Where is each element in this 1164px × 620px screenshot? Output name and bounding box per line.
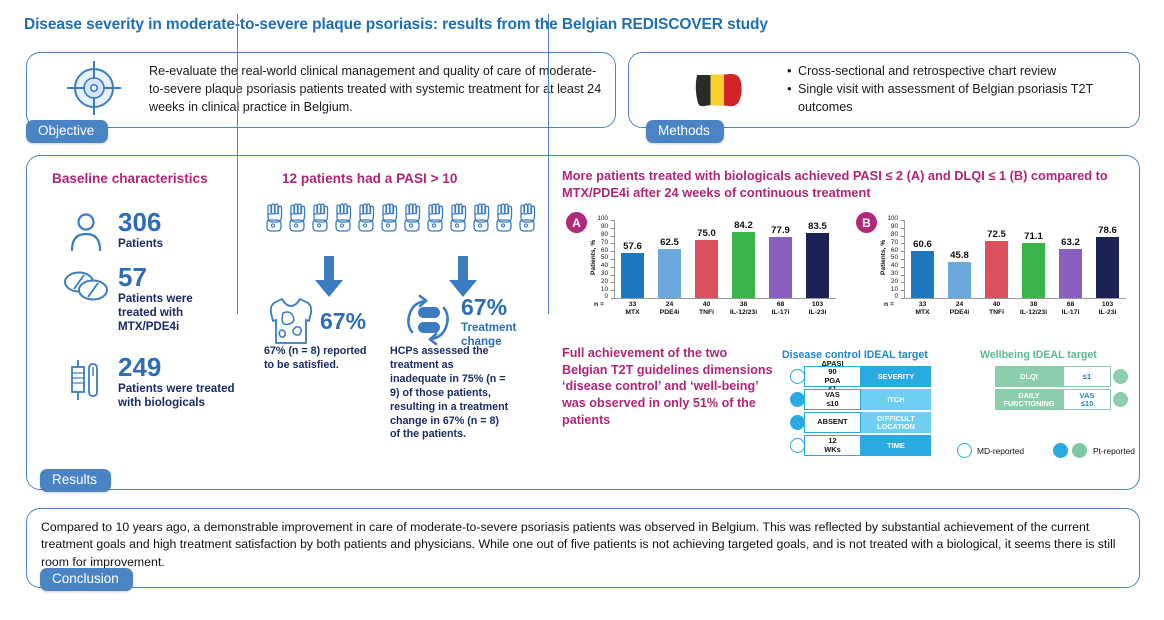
- target-chip: TIME: [861, 435, 931, 456]
- hand-icon: [517, 203, 539, 238]
- y-tick-label: 10: [884, 287, 898, 293]
- bar-value-label: 78.6: [1086, 225, 1130, 236]
- pills-icon: [62, 269, 112, 308]
- bar: [806, 233, 828, 298]
- y-tick-label: 100: [884, 216, 898, 222]
- y-tick-label: 10: [594, 287, 608, 293]
- x-axis: [904, 298, 1126, 299]
- stat-label: Patients: [118, 237, 163, 251]
- bar: [1059, 249, 1081, 298]
- bar-value-label: 63.2: [1049, 237, 1093, 248]
- y-tick-label: 100: [594, 216, 608, 222]
- wellbeing-dot-filled-icon: [1113, 369, 1128, 384]
- hand-icon: [425, 203, 447, 238]
- legend-pt-dot-green-icon: [1072, 443, 1087, 458]
- satisfied-caption: 67% (n = 8) reported to be satisfied.: [264, 345, 369, 373]
- target-chip: SEVERITY: [861, 366, 931, 387]
- person-icon: [69, 212, 103, 257]
- bar: [948, 262, 970, 298]
- chart-a-badge: A: [566, 212, 587, 233]
- hand-icon-row: [264, 203, 539, 238]
- bar: [658, 249, 680, 298]
- hand-icon: [471, 203, 493, 238]
- stat-label: Patients were treated with MTX/PDE4i: [118, 292, 233, 334]
- target-dot-open-icon: [790, 369, 805, 384]
- wellbeing-dot-filled-icon: [1113, 392, 1128, 407]
- bar-value-label: 62.5: [648, 237, 692, 248]
- target-value: VAS≤10: [804, 389, 861, 410]
- divider: [548, 14, 549, 314]
- objective-tab: Objective: [26, 120, 108, 143]
- target-value: 12WKs: [804, 435, 861, 456]
- target-dot-filled-icon: [790, 392, 805, 407]
- objective-text: Re-evaluate the real-world clinical mana…: [149, 63, 609, 117]
- legend-md-label: MD-reported: [977, 446, 1024, 456]
- stat-number: 249: [118, 355, 236, 380]
- bar: [695, 240, 717, 299]
- methods-panel: Cross-sectional and retrospective chart …: [628, 52, 1140, 128]
- hand-icon: [356, 203, 378, 238]
- methods-bullet: Single visit with assessment of Belgian …: [787, 81, 1132, 117]
- bar-value-label: 45.8: [938, 250, 982, 261]
- target-chip: DIFFICULTLOCATION: [861, 412, 931, 433]
- hand-icon: [494, 203, 516, 238]
- hand-icon: [264, 203, 286, 238]
- results-tab: Results: [40, 469, 111, 492]
- bar: [911, 251, 933, 298]
- wellbeing-chip: DAILYFUNCTIONING: [995, 389, 1063, 410]
- statement-text: Full achievement of the two Belgian T2T …: [562, 345, 774, 429]
- target-icon: [65, 59, 123, 122]
- page-title: Disease severity in moderate-to-severe p…: [24, 16, 768, 34]
- target-chip: ITCH: [861, 389, 931, 410]
- torso-psoriasis-icon: [268, 297, 314, 350]
- stat-label: Patients were treated with biologicals: [118, 382, 236, 410]
- conclusion-text: Compared to 10 years ago, a demonstrable…: [41, 519, 1127, 571]
- y-axis: [904, 220, 905, 298]
- bar-value-label: 83.5: [796, 221, 840, 232]
- wellbeing-value: VAS≤10: [1063, 389, 1111, 410]
- bar-value-label: 60.6: [901, 239, 945, 250]
- y-tick-label: 20: [884, 279, 898, 285]
- chart-a: 0102030405060708090100Patients, %n =57.6…: [592, 208, 846, 326]
- treatment-change-percent: 67%: [461, 296, 523, 319]
- bar: [1096, 237, 1118, 298]
- conclusion-panel: Compared to 10 years ago, a demonstrable…: [26, 508, 1140, 588]
- target-value: ABSENT: [804, 412, 861, 433]
- y-tick-label: 90: [884, 224, 898, 230]
- methods-bullet: Cross-sectional and retrospective chart …: [787, 63, 1132, 81]
- y-tick-label: 0: [884, 294, 898, 300]
- y-axis: [614, 220, 615, 298]
- belgian-flag-icon: [691, 69, 747, 116]
- n-equals-label: n =: [884, 301, 894, 308]
- legend-pt-label: Pt-reported: [1093, 446, 1135, 456]
- arrow-down-icon: [314, 256, 344, 303]
- conclusion-tab: Conclusion: [40, 568, 133, 591]
- stat-number: 57: [118, 265, 233, 290]
- methods-bullet-list: Cross-sectional and retrospective chart …: [787, 63, 1132, 117]
- legend-md-dot-icon: [957, 443, 972, 458]
- hand-icon: [310, 203, 332, 238]
- hand-icon: [379, 203, 401, 238]
- target-dot-open-icon: [790, 438, 805, 453]
- treatment-change-icon: [400, 294, 456, 351]
- baseline-heading: Baseline characteristics: [52, 171, 208, 186]
- wellbeing-value: ≤1: [1063, 366, 1111, 387]
- bar: [621, 253, 643, 298]
- hand-icon: [448, 203, 470, 238]
- legend-pt-dot-cyan-icon: [1053, 443, 1068, 458]
- wellbeing-target-title: Wellbeing IDEAL target: [980, 349, 1097, 361]
- chart-b: 0102030405060708090100Patients, %n =60.6…: [882, 208, 1136, 326]
- chart-b-badge: B: [856, 212, 877, 233]
- divider: [237, 14, 238, 314]
- bar: [732, 232, 754, 298]
- y-axis-title: Patients, %: [880, 240, 887, 275]
- y-tick-label: 80: [884, 232, 898, 238]
- charts-headline: More patients treated with biologicals a…: [562, 168, 1138, 202]
- x-axis: [614, 298, 836, 299]
- x-category-label: 103IL-23i: [1085, 301, 1131, 318]
- disease-target-title: Disease control IDEAL target: [782, 349, 928, 361]
- satisfied-percent: 67%: [320, 310, 366, 333]
- stat-number: 306: [118, 210, 163, 235]
- hcp-caption: HCPs assessed the treatment as inadequat…: [390, 345, 510, 442]
- bar: [769, 237, 791, 298]
- bar: [1022, 243, 1044, 298]
- y-axis-title: Patients, %: [590, 240, 597, 275]
- y-tick-label: 0: [594, 294, 608, 300]
- bar: [985, 241, 1007, 298]
- wellbeing-chip: DLQI: [995, 366, 1063, 387]
- pasi-heading: 12 patients had a PASI > 10: [282, 171, 457, 186]
- hand-icon: [333, 203, 355, 238]
- objective-panel: Re-evaluate the real-world clinical mana…: [26, 52, 616, 128]
- y-tick-label: 90: [594, 224, 608, 230]
- y-tick-label: 20: [594, 279, 608, 285]
- x-category-label: 103IL-23i: [795, 301, 841, 318]
- n-equals-label: n =: [594, 301, 604, 308]
- y-tick-label: 80: [594, 232, 608, 238]
- methods-tab: Methods: [646, 120, 724, 143]
- target-dot-filled-icon: [790, 415, 805, 430]
- target-value: ΔPASI90PGA≤1: [804, 366, 861, 387]
- hand-icon: [287, 203, 309, 238]
- hand-icon: [402, 203, 424, 238]
- syringe-icon: [66, 358, 110, 407]
